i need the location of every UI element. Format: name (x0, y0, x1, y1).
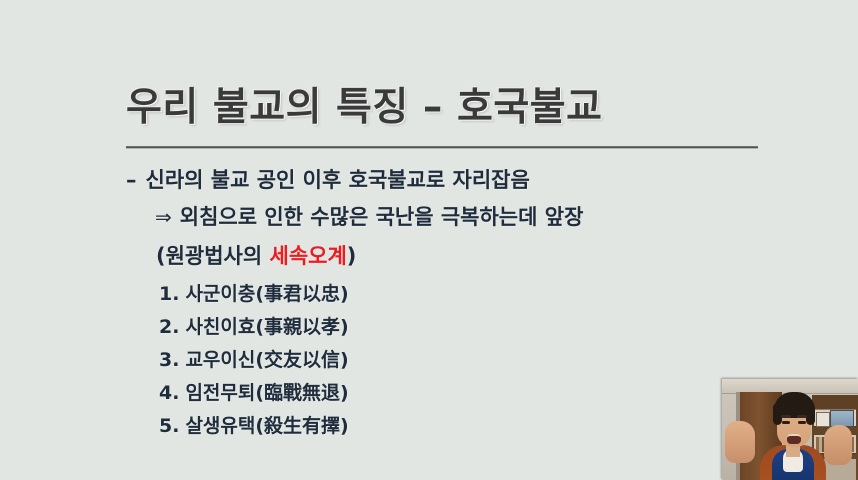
list-item-hanja: (殺生有擇) (255, 415, 348, 437)
list-item-hanja: (交友以信) (255, 349, 348, 371)
presenter-eyebrow-left (781, 415, 791, 418)
bullet-line-3-highlight: 세속오계 (270, 244, 347, 268)
title-block: 우리 불교의 특징 – 호국불교 (126, 84, 760, 132)
presenter-hair-right (806, 403, 815, 425)
bullet-line-2: ⇒외침으로 인한 수많은 국난을 극복하는데 앞장 (155, 203, 583, 231)
list-item-korean: 교우이신 (185, 349, 255, 371)
bullet-dash-icon: – (126, 168, 137, 192)
list-item-hanja: (臨戰無退) (255, 382, 348, 404)
list-item-korean: 사친이효 (185, 316, 255, 338)
lecture-slide: 우리 불교의 특징 – 호국불교 –신라의 불교 공인 이후 호국불교로 자리잡… (0, 0, 858, 480)
list-item: 2.사친이효(事親以孝) (159, 314, 349, 347)
presenter-mouth (787, 434, 801, 444)
bullet-line-3-prefix: (원광법사의 (156, 244, 270, 268)
bullet-line-1-text: 신라의 불교 공인 이후 호국불교로 자리잡음 (146, 168, 530, 192)
list-item-hanja: (事親以孝) (255, 316, 348, 338)
presenter-video-overlay[interactable] (722, 379, 858, 480)
list-item-number: 5. (159, 415, 179, 437)
presenter-hair-left (773, 403, 782, 425)
list-item-number: 1. (159, 283, 179, 305)
bullet-line-2-text: 외침으로 인한 수많은 국난을 극복하는데 앞장 (180, 205, 584, 229)
presenter-hand-right (824, 425, 852, 465)
page-title: 우리 불교의 특징 – 호국불교 (126, 84, 760, 132)
list-item-korean: 임전무퇴 (185, 382, 255, 404)
list-item-hanja: (事君以忠) (255, 283, 348, 305)
bullet-line-3-suffix: ) (347, 244, 357, 268)
double-arrow-icon: ⇒ (155, 205, 172, 229)
picture-frame (816, 412, 830, 427)
bullet-line-3: (원광법사의 세속오계) (156, 242, 356, 270)
list-item-korean: 살생유택 (185, 415, 255, 437)
presenter-eye-right (798, 421, 806, 424)
list-item-number: 2. (159, 316, 179, 338)
list-item: 4.임전무퇴(臨戰無退) (159, 380, 349, 413)
title-divider (126, 146, 758, 149)
video-frame (722, 379, 858, 480)
presenter-hand-left (725, 421, 755, 463)
list-item-number: 4. (159, 382, 179, 404)
list-item: 3.교우이신(交友以信) (159, 347, 349, 380)
bullet-line-1: –신라의 불교 공인 이후 호국불교로 자리잡음 (126, 166, 530, 194)
list-item: 5.살생유택(殺生有擇) (159, 413, 349, 446)
five-precepts-list: 1.사군이충(事君以忠) 2.사친이효(事親以孝) 3.교우이신(交友以信) 4… (159, 281, 349, 446)
list-item-korean: 사군이충 (185, 283, 255, 305)
list-item-number: 3. (159, 349, 179, 371)
presenter-eye-left (782, 421, 790, 424)
list-item: 1.사군이충(事君以忠) (159, 281, 349, 314)
presenter-eyebrow-right (797, 415, 807, 418)
